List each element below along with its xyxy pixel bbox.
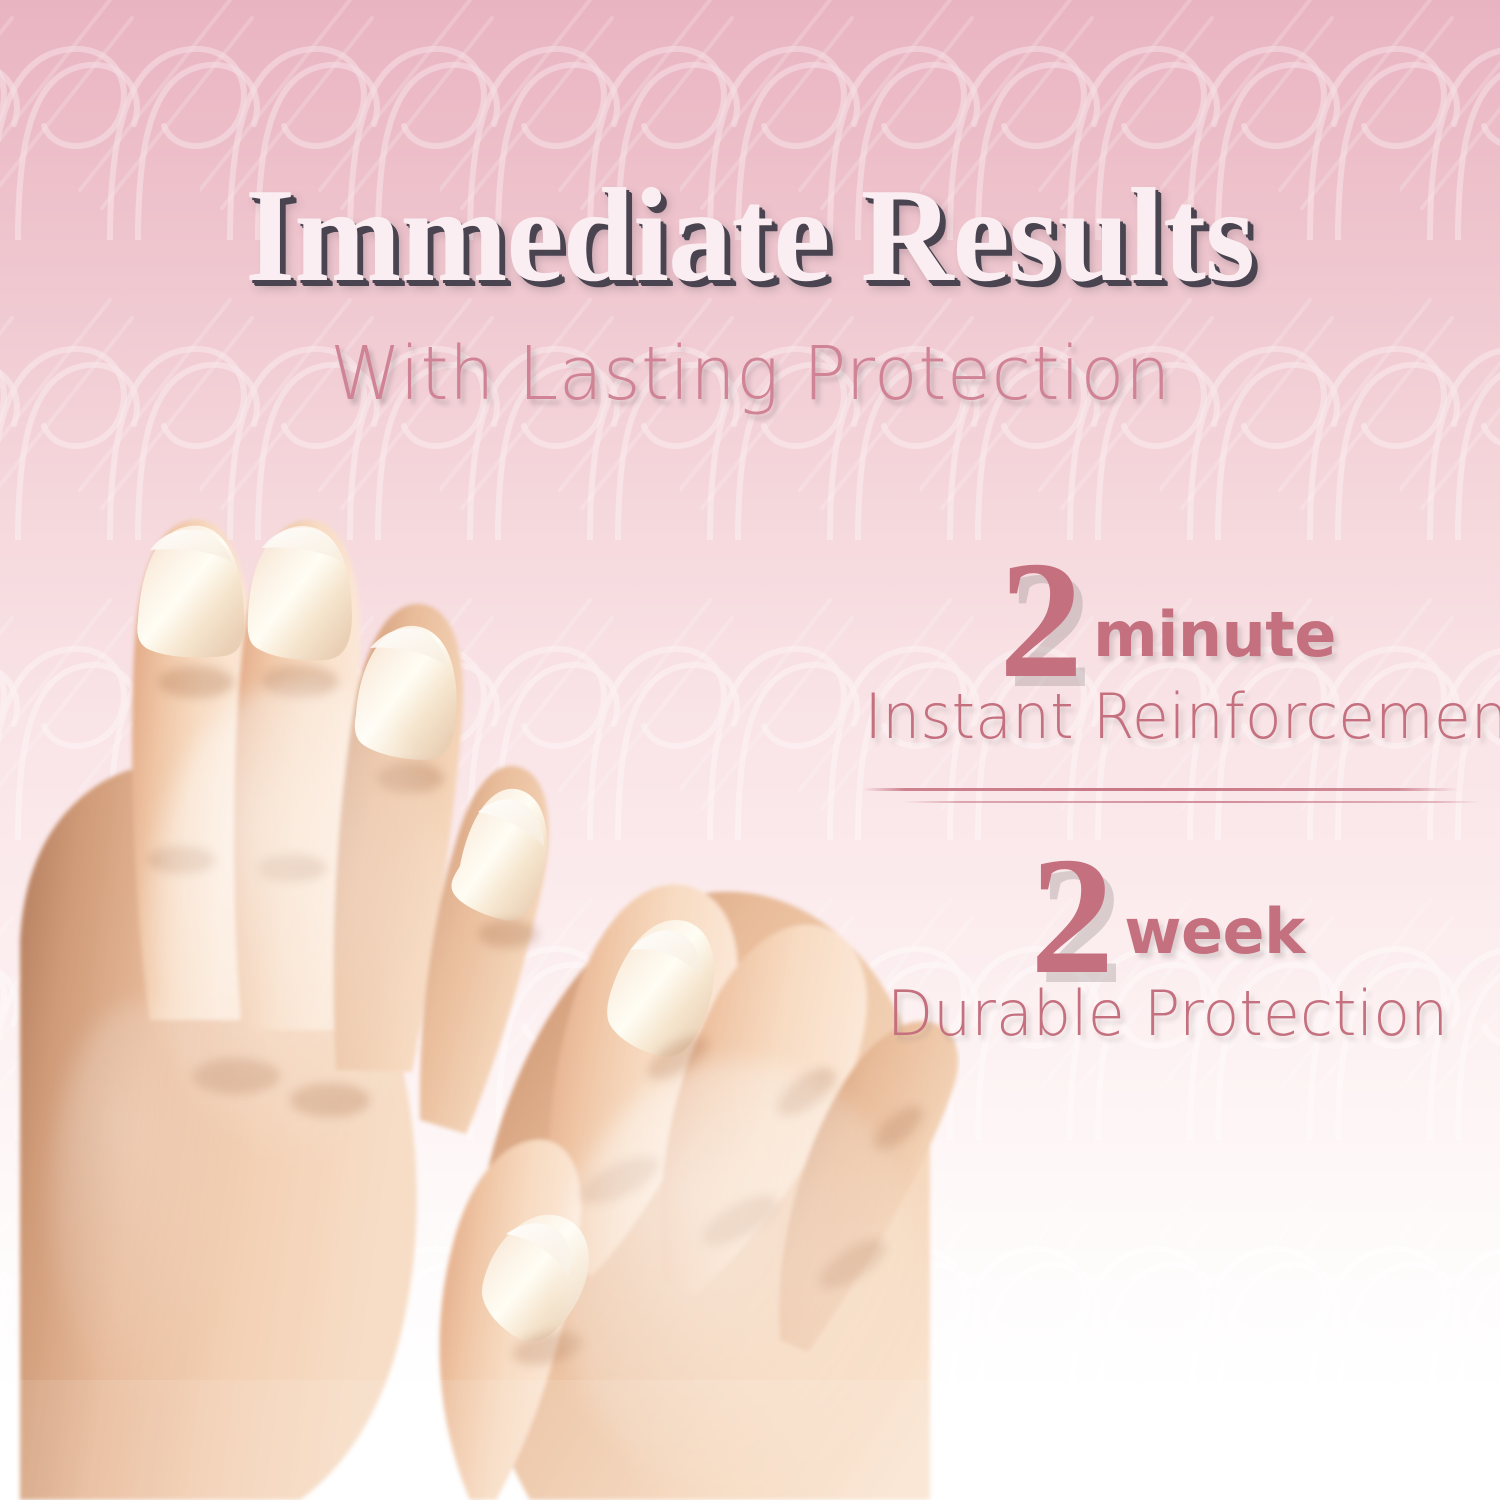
stat-unit: week bbox=[1124, 901, 1305, 963]
stat-headline: 2 minute bbox=[855, 548, 1480, 692]
stat-block-instant-reinforcement: 2 minute Instant Reinforcement bbox=[855, 548, 1480, 748]
stats-column: 2 minute Instant Reinforcement 2 week Du… bbox=[855, 548, 1480, 1045]
promo-poster: Immediate Results With Lasting Protectio… bbox=[0, 0, 1500, 1500]
stat-caption: Instant Reinforcement bbox=[864, 686, 1470, 748]
divider-line-lower bbox=[903, 801, 1480, 803]
stat-headline: 2 week bbox=[855, 844, 1480, 988]
stat-number: 2 bbox=[1030, 844, 1110, 988]
subtitle-container: With Lasting Protection bbox=[0, 276, 1500, 473]
stat-number: 2 bbox=[999, 548, 1079, 692]
section-divider bbox=[855, 778, 1480, 818]
page-subtitle: With Lasting Protection bbox=[330, 337, 1171, 411]
stat-block-durable-protection: 2 week Durable Protection bbox=[855, 844, 1480, 1044]
stat-unit: minute bbox=[1093, 604, 1336, 666]
stat-caption: Durable Protection bbox=[864, 983, 1470, 1045]
divider-line-upper bbox=[863, 788, 1458, 791]
